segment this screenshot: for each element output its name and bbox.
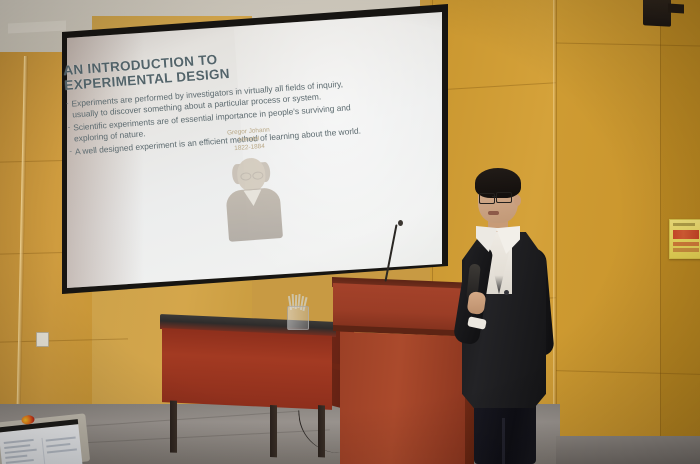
presenter-leg-separation — [502, 418, 505, 464]
presenter-mouth — [488, 211, 499, 215]
notice-headline — [673, 230, 699, 239]
notice-text-row — [673, 242, 699, 246]
bullet-marker-icon: - — [67, 123, 70, 134]
laptop-text-line — [6, 459, 34, 464]
wall-speaker — [643, 0, 671, 27]
lecture-hall-scene: AN INTRODUCTION TO EXPERIMENTAL DESIGN -… — [0, 0, 700, 464]
presenter-glasses-left-icon — [479, 193, 495, 204]
presenter-cardigan-button — [504, 290, 509, 295]
presenter-ear — [514, 195, 521, 206]
power-outlet — [36, 332, 49, 347]
laptop-text-line — [5, 449, 37, 454]
laptop-text-line — [46, 436, 76, 441]
presenter — [452, 168, 556, 464]
table-leg — [270, 405, 277, 457]
laptop-screen[interactable] — [0, 419, 83, 464]
wall-notice-sign — [669, 219, 700, 259]
laptop-text-line — [46, 443, 70, 447]
laptop-column-divider — [41, 438, 45, 464]
gooseneck-microphone-head — [398, 220, 403, 226]
pen-holder — [287, 306, 309, 330]
laptop-text-line — [5, 455, 27, 459]
wall-seam — [660, 0, 661, 464]
bullet-marker-icon: - — [69, 147, 72, 158]
ceiling-vent — [8, 20, 66, 33]
gregor-mendel-portrait — [219, 154, 287, 242]
laptop-text-line — [47, 448, 77, 453]
notice-header-line — [673, 223, 695, 226]
table-front-panel — [162, 328, 332, 410]
podium-front-panel — [340, 332, 465, 464]
laptop-text-line — [4, 444, 30, 448]
table-leg — [170, 400, 177, 452]
presenter-glasses-bridge — [492, 196, 497, 197]
wall-speaker-bracket — [668, 3, 684, 13]
side-table — [160, 314, 336, 414]
floor-right — [556, 436, 700, 464]
laptop-text-line — [4, 439, 34, 444]
wall-seam — [556, 0, 557, 464]
table-leg — [318, 405, 325, 457]
notice-text-row — [673, 248, 699, 252]
bullet-marker-icon: - — [65, 99, 68, 110]
laptop[interactable] — [0, 413, 90, 464]
presenter-glasses-right-icon — [496, 192, 512, 203]
